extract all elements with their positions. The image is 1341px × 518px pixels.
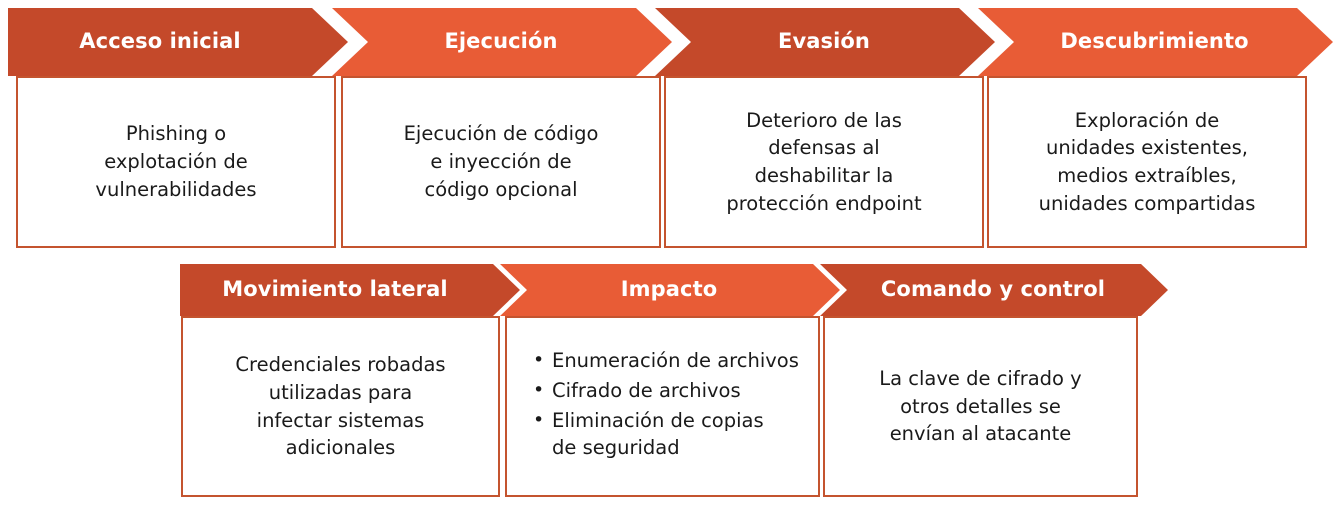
stage-comando-y-control[interactable]: Comando y control La clave de cifrado y … (820, 264, 1168, 504)
stage-body-comando-y-control: La clave de cifrado y otros detalles se … (823, 316, 1138, 497)
stage-header-impacto: Impacto (500, 264, 840, 316)
stage-body-evasion: Deterioro de las defensas al deshabilita… (664, 76, 984, 248)
stage-evasion[interactable]: Evasión Deterioro de las defensas al des… (655, 8, 995, 248)
stage-header-descubrimiento: Descubrimiento (978, 8, 1333, 76)
stage-header-comando-y-control: Comando y control (820, 264, 1168, 316)
impacto-bullet-list: Enumeración de archivos Cifrado de archi… (507, 348, 799, 465)
stage-body-text-comando-y-control: La clave de cifrado y otros detalles se … (871, 365, 1089, 448)
stage-ejecucion[interactable]: Ejecución Ejecución de código e inyecció… (332, 8, 672, 248)
stage-header-evasion: Evasión (655, 8, 995, 76)
stage-body-text-descubrimiento: Exploración de unidades existentes, medi… (1031, 107, 1264, 218)
stage-header-acceso-inicial: Acceso inicial (8, 8, 348, 76)
stage-impacto[interactable]: Impacto Enumeración de archivos Cifrado … (500, 264, 840, 504)
stage-body-ejecucion: Ejecución de código e inyección de códig… (341, 76, 661, 248)
stage-descubrimiento[interactable]: Descubrimiento Exploración de unidades e… (978, 8, 1333, 248)
stage-title-movimiento-lateral: Movimiento lateral (222, 279, 447, 300)
stage-header-ejecucion: Ejecución (332, 8, 672, 76)
list-item: Eliminación de copias de seguridad (533, 408, 799, 462)
stage-body-movimiento-lateral: Credenciales robadas utilizadas para inf… (181, 316, 500, 497)
stage-title-impacto: Impacto (621, 279, 718, 300)
stage-body-text-acceso-inicial: Phishing o explotación de vulnerabilidad… (87, 120, 264, 203)
stage-title-descubrimiento: Descubrimiento (1060, 31, 1248, 52)
stage-title-comando-y-control: Comando y control (881, 279, 1105, 300)
stage-title-evasion: Evasión (778, 31, 870, 52)
stage-body-impacto: Enumeración de archivos Cifrado de archi… (505, 316, 820, 497)
stage-header-movimiento-lateral: Movimiento lateral (180, 264, 520, 316)
stage-acceso-inicial[interactable]: Acceso inicial Phishing o explotación de… (8, 8, 348, 248)
stage-body-descubrimiento: Exploración de unidades existentes, medi… (987, 76, 1307, 248)
stage-movimiento-lateral[interactable]: Movimiento lateral Credenciales robadas … (180, 264, 520, 504)
stage-title-ejecucion: Ejecución (444, 31, 557, 52)
stage-body-text-ejecucion: Ejecución de código e inyección de códig… (396, 120, 607, 203)
stage-body-text-evasion: Deterioro de las defensas al deshabilita… (718, 107, 929, 218)
stage-body-acceso-inicial: Phishing o explotación de vulnerabilidad… (16, 76, 336, 248)
list-item: Enumeración de archivos (533, 348, 799, 375)
stage-title-acceso-inicial: Acceso inicial (79, 31, 240, 52)
ransomware-attack-chain-diagram: Acceso inicial Phishing o explotación de… (0, 0, 1341, 518)
list-item: Cifrado de archivos (533, 378, 799, 405)
stage-body-text-movimiento-lateral: Credenciales robadas utilizadas para inf… (227, 351, 453, 462)
